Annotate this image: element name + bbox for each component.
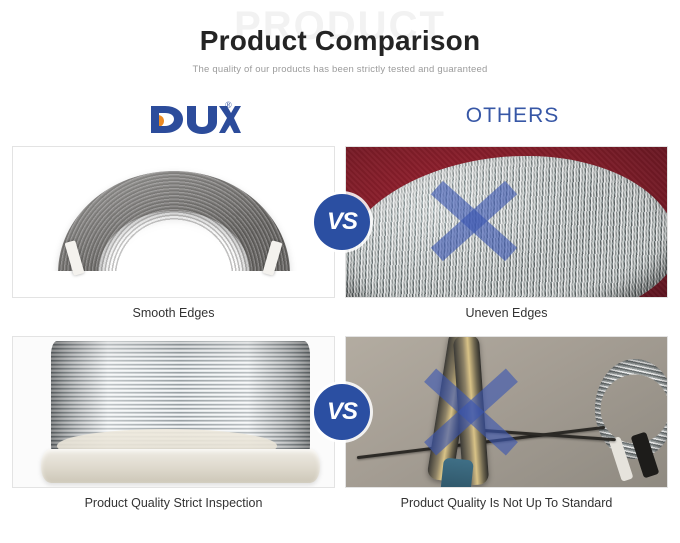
red-cloth-scene bbox=[346, 147, 667, 297]
coil-scene bbox=[13, 147, 334, 297]
others-label: OTHERS bbox=[400, 104, 625, 128]
page-header: PRODUCT Product Comparison The quality o… bbox=[0, 0, 680, 96]
spool-scene bbox=[13, 337, 334, 487]
product-image-smooth-edges bbox=[12, 146, 335, 298]
caption-smooth-edges: Smooth Edges bbox=[12, 306, 335, 320]
brand-row: ® OTHERS bbox=[0, 96, 680, 146]
caption-strict-inspection: Product Quality Strict Inspection bbox=[12, 496, 335, 510]
caption-uneven-edges: Uneven Edges bbox=[345, 306, 668, 320]
brand-logo: ® bbox=[145, 100, 260, 140]
vs-badge-row-1: VS bbox=[314, 194, 370, 250]
caption-not-up-to-standard: Product Quality Is Not Up To Standard bbox=[345, 496, 668, 510]
page-title: Product Comparison bbox=[0, 26, 680, 57]
vs-badge-label: VS bbox=[327, 210, 357, 234]
registered-trademark-icon: ® bbox=[225, 100, 232, 110]
vs-badge-label: VS bbox=[327, 400, 357, 424]
product-image-not-up-to-standard bbox=[345, 336, 668, 488]
vs-badge-row-2: VS bbox=[314, 384, 370, 440]
coil-bottom-mask bbox=[13, 271, 334, 297]
plier-handle bbox=[440, 458, 474, 488]
page-subtitle: The quality of our products has been str… bbox=[0, 64, 680, 75]
comparison-row-2: VS Product Quality Strict Inspection Pro… bbox=[0, 336, 680, 526]
product-image-strict-inspection bbox=[12, 336, 335, 488]
tangled-wire-shape bbox=[345, 146, 668, 298]
product-image-uneven-edges bbox=[345, 146, 668, 298]
spool-flange-shape bbox=[41, 449, 320, 483]
pliers-scene bbox=[346, 337, 667, 487]
comparison-row-1: VS Smooth Edges Uneven Edges bbox=[0, 146, 680, 336]
